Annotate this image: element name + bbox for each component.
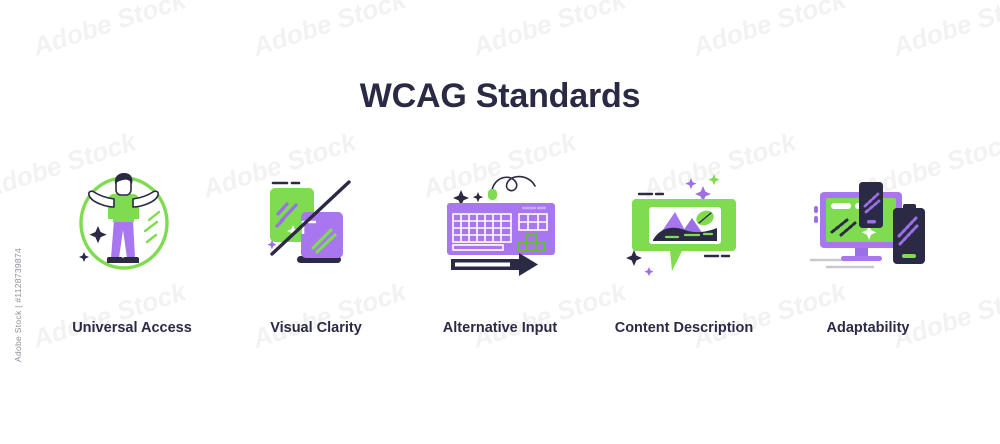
wcag-standards-list: Universal Access <box>40 168 960 358</box>
item-alternative-input: Alternative Input <box>408 168 592 336</box>
watermark-tile: Adobe Stock <box>469 0 630 63</box>
item-adaptability: Adaptability <box>776 168 960 336</box>
watermark-tile: Adobe Stock <box>249 0 410 63</box>
illustration-page: Adobe Stock Adobe Stock Adobe Stock Adob… <box>0 0 1000 444</box>
item-label: Visual Clarity <box>270 320 362 336</box>
item-content-description: Content Description <box>592 168 776 336</box>
monitor-phone-tablet-icon <box>803 168 933 278</box>
keyboard-with-mouse-icon <box>435 168 565 278</box>
watermark-tile: Adobe Stock <box>889 0 1000 63</box>
item-universal-access: Universal Access <box>40 168 224 336</box>
speech-bubble-with-image-icon <box>619 168 749 278</box>
item-label: Content Description <box>615 320 754 336</box>
item-label: Adaptability <box>827 320 910 336</box>
item-label: Universal Access <box>72 320 192 336</box>
person-in-circle-icon <box>67 168 197 278</box>
page-title: WCAG Standards <box>0 77 1000 116</box>
stock-credit-watermark: Adobe Stock | #1128739874 <box>13 235 23 375</box>
cards-with-slash-icon <box>251 168 381 278</box>
item-visual-clarity: Visual Clarity <box>224 168 408 336</box>
watermark-tile: Adobe Stock <box>29 0 190 63</box>
watermark-tile: Adobe Stock <box>689 0 850 63</box>
item-label: Alternative Input <box>443 320 557 336</box>
